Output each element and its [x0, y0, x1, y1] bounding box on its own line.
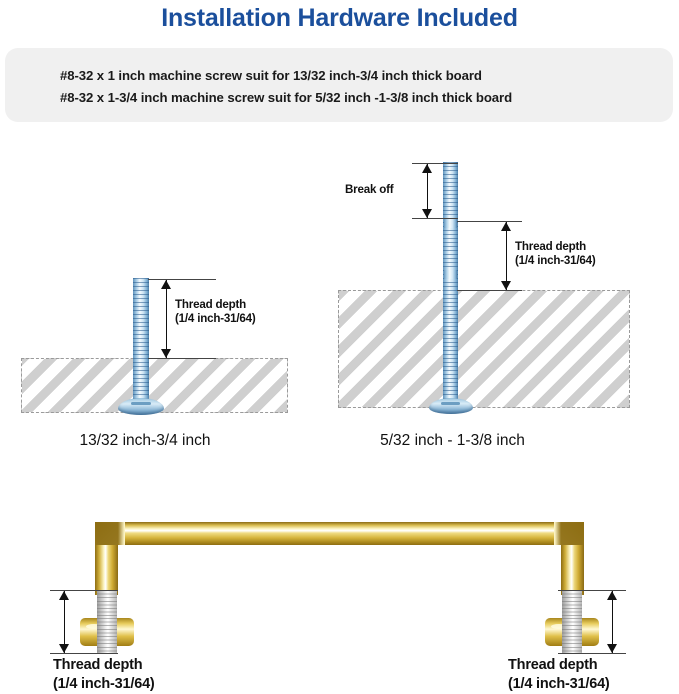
thread-depth-arrow-bottom-long	[501, 281, 511, 290]
break-off-label: Break off	[345, 183, 393, 197]
spec-line-1: #8-32 x 1 inch machine screw suit for 13…	[60, 68, 482, 83]
thread-depth-line-long	[506, 222, 507, 290]
thread-depth-arrow-bottom-short	[161, 349, 171, 358]
screw-smooth-section-long	[444, 218, 457, 228]
thread-depth-label-long: Thread depth (1/4 inch-31/64)	[515, 240, 596, 268]
caption-long-screw: 5/32 inch - 1-3/8 inch	[330, 432, 575, 450]
handle-left-arrow-top	[59, 591, 69, 600]
break-off-arrow-bottom	[422, 209, 432, 218]
handle-left-tick-bottom	[50, 653, 118, 654]
handle-thread-left-lower	[97, 618, 117, 653]
thread-depth-arrow-top-long	[501, 222, 511, 231]
thread-depth-line-short	[166, 280, 167, 358]
screw-head-slot-short	[131, 402, 151, 405]
screw-head-slot-long	[441, 402, 460, 405]
thread-depth-tick-top-long	[457, 221, 522, 222]
handle-left-arrow-bottom	[59, 644, 69, 653]
handle-left-label-line-2: (1/4 inch-31/64)	[53, 675, 155, 694]
handle-leg-left	[95, 545, 118, 595]
screw-head-long	[429, 398, 473, 414]
screw-shaft-short	[133, 278, 149, 403]
handle-left-label: Thread depth (1/4 inch-31/64)	[53, 656, 155, 694]
page-title: Installation Hardware Included	[0, 2, 679, 34]
screw-smooth-section-2-long	[444, 270, 457, 279]
handle-left-label-line-1: Thread depth	[53, 656, 155, 675]
thread-depth-label-line-2: (1/4 inch-31/64)	[175, 312, 256, 326]
spec-line-2: #8-32 x 1-3/4 inch machine screw suit fo…	[60, 90, 512, 105]
thread-depth-long-line-1: Thread depth	[515, 240, 596, 254]
handle-diagram: Thread depth (1/4 inch-31/64) Thread dep…	[0, 460, 679, 620]
handle-right-arrow-top	[607, 591, 617, 600]
spec-box: #8-32 x 1 inch machine screw suit for 13…	[5, 48, 673, 122]
handle-right-label-line-1: Thread depth	[508, 656, 610, 675]
diagram-long-screw: Break off Thread depth (1/4 inch-31/64) …	[330, 130, 679, 460]
thread-depth-tick-bottom-short	[148, 358, 216, 359]
thread-depth-arrow-top-short	[161, 280, 171, 289]
handle-leg-right	[561, 545, 584, 595]
handle-right-arrow-bottom	[607, 644, 617, 653]
break-off-tick-top	[412, 163, 458, 164]
diagram-short-screw: Thread depth (1/4 inch-31/64) 13/32 inch…	[0, 130, 340, 460]
screw-head-short	[118, 398, 164, 415]
handle-right-tick-bottom	[558, 653, 626, 654]
thread-depth-label-short: Thread depth (1/4 inch-31/64)	[175, 298, 256, 326]
handle-right-label: Thread depth (1/4 inch-31/64)	[508, 656, 610, 694]
handle-right-label-line-2: (1/4 inch-31/64)	[508, 675, 610, 694]
thread-depth-tick-bottom-long	[457, 290, 522, 291]
thread-depth-tick-top-short	[148, 279, 216, 280]
handle-thread-right-lower	[562, 618, 582, 653]
break-off-tick-bottom	[412, 218, 458, 219]
caption-short-screw: 13/32 inch-3/4 inch	[0, 432, 290, 450]
thread-depth-label-line-1: Thread depth	[175, 298, 256, 312]
handle-top-bar	[117, 522, 562, 545]
board-long	[338, 290, 630, 408]
screw-shaft-long	[443, 162, 458, 402]
break-off-arrow-top	[422, 164, 432, 173]
thread-depth-long-line-2: (1/4 inch-31/64)	[515, 254, 596, 268]
